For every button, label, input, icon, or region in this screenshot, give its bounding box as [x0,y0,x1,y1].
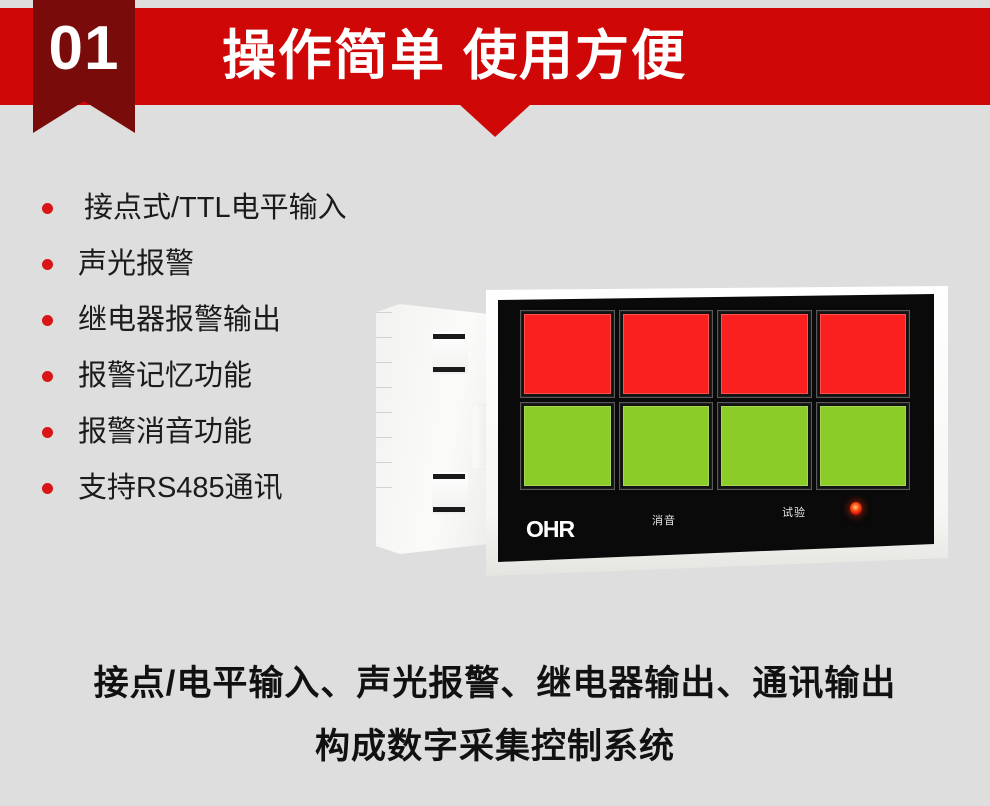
mounting-clip-bottom [432,472,468,514]
alarm-window-1[interactable] [520,310,615,398]
lamp-green [721,406,808,486]
feature-label: 声光报警 [78,248,194,280]
alarm-window-3[interactable] [717,310,812,398]
alarm-window-2[interactable] [619,310,714,398]
lamp-green [820,406,907,486]
list-item: 报警消音功能 [34,404,434,460]
feature-label: 报警消音功能 [78,416,252,448]
caption-line-2: 构成数字采集控制系统 [0,715,990,778]
step-number-label: 01 [49,18,120,80]
list-item: 继电器报警输出 [34,292,434,348]
lamp-green [524,406,611,486]
brand-logo: OHR [526,516,574,543]
lamp-red [623,314,710,394]
caption-line-1: 接点/电平输入、声光报警、继电器输出、通讯输出 [0,652,990,715]
bullet-icon [42,483,53,494]
lamp-green [623,406,710,486]
bullet-icon [42,315,53,326]
test-key-label[interactable]: 试验 [782,504,806,520]
list-item: 报警记忆功能 [34,348,434,404]
lamp-red [820,314,907,394]
mute-key-label[interactable]: 消音 [652,512,676,528]
feature-label: 继电器报警输出 [78,304,281,336]
step-number-ribbon: 01 [33,0,135,133]
header-arrow-icon [460,105,530,137]
feature-label: 支持RS485通讯 [78,472,283,504]
lamp-red [524,314,611,394]
page-title: 操作简单 使用方便 [222,14,687,98]
caption-block: 接点/电平输入、声光报警、继电器输出、通讯输出 构成数字采集控制系统 [0,652,990,778]
list-item: 接点式/TTL电平输入 [34,180,434,236]
list-item: 支持RS485通讯 [34,460,434,516]
feature-label: 报警记忆功能 [78,360,252,392]
product-photo-annunciator: OHR 消音 试验 [376,286,948,578]
alarm-window-5[interactable] [520,402,615,490]
alarm-window-7[interactable] [717,402,812,490]
bullet-icon [42,203,53,214]
bullet-icon [42,259,53,270]
bullet-icon [42,371,53,382]
power-led-indicator [850,502,862,515]
lamp-red [721,314,808,394]
alarm-panel-grid [520,310,910,490]
mounting-clip-top [432,332,468,374]
alarm-window-8[interactable] [816,402,911,490]
alarm-window-4[interactable] [816,310,911,398]
bullet-icon [42,427,53,438]
feature-label: 接点式/TTL电平输入 [78,192,347,224]
list-item: 声光报警 [34,236,434,292]
housing-ridges [376,312,392,512]
alarm-window-6[interactable] [619,402,714,490]
feature-list: 接点式/TTL电平输入 声光报警 继电器报警输出 报警记忆功能 报警消音功能 支… [34,180,434,516]
